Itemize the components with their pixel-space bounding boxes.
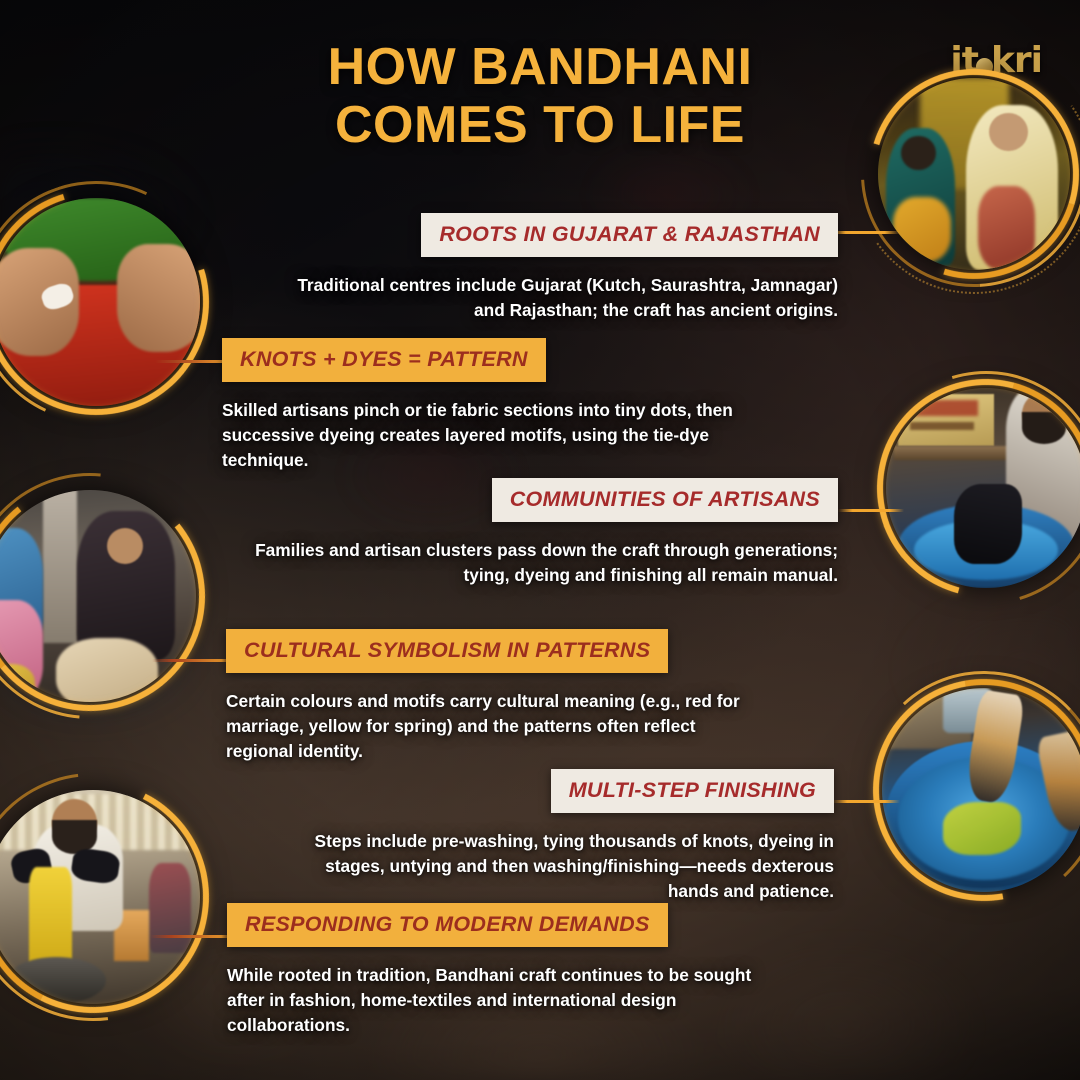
section-communities-body: Families and artisan clusters pass down … [240, 538, 838, 588]
connector-line-modern [150, 935, 234, 938]
logo-text-before: it [950, 40, 978, 81]
photo-women-tying-knots [878, 78, 1070, 270]
page-title-line-1: HOW BANDHANI [328, 38, 753, 96]
section-finishing: MULTI-STEP FINISHING Steps include pre-w… [300, 769, 834, 904]
logo-dot-icon [976, 58, 993, 75]
connector-line-communities [838, 509, 904, 512]
section-finishing-heading[interactable]: MULTI-STEP FINISHING [551, 769, 834, 813]
section-communities-heading[interactable]: COMMUNITIES OF ARTISANS [492, 478, 838, 522]
connector-line-roots [830, 231, 900, 234]
section-symbolism-body: Certain colours and motifs carry cultura… [226, 689, 766, 764]
photo-dyer-lifting-yellow-fabric [0, 790, 200, 1004]
itokri-logo[interactable]: itkri [950, 40, 1042, 81]
scene-art [882, 688, 1080, 892]
section-modern-body: While rooted in tradition, Bandhani craf… [227, 963, 787, 1038]
scene-art [0, 198, 200, 406]
photo-image [0, 790, 200, 1004]
scene-art [878, 78, 1070, 270]
photo-image [0, 490, 196, 702]
photo-image [0, 198, 200, 406]
section-symbolism: CULTURAL SYMBOLISM IN PATTERNS Certain c… [226, 629, 766, 764]
section-roots: ROOTS IN GUJARAT & RAJASTHAN Traditional… [278, 213, 838, 323]
scene-art [886, 388, 1080, 588]
section-roots-body: Traditional centres include Gujarat (Kut… [278, 273, 838, 323]
connector-line-symbolism [152, 659, 234, 662]
photo-dyer-at-blue-tub [886, 388, 1080, 588]
photo-hands-tying-red-fabric [0, 198, 200, 406]
section-symbolism-heading[interactable]: CULTURAL SYMBOLISM IN PATTERNS [226, 629, 668, 673]
photo-image [886, 388, 1080, 588]
connector-line-finishing [832, 800, 900, 803]
photo-image [882, 688, 1080, 892]
logo-text-after: kri [991, 40, 1042, 81]
photo-indigo-dye-vat [882, 688, 1080, 892]
section-knots-body: Skilled artisans pinch or tie fabric sec… [222, 398, 742, 473]
infographic-canvas: HOW BANDHANI COMES TO LIFE itkri [0, 0, 1080, 1080]
section-knots-heading[interactable]: KNOTS + DYES = PATTERN [222, 338, 546, 382]
section-knots: KNOTS + DYES = PATTERN Skilled artisans … [222, 338, 742, 473]
section-modern: RESPONDING TO MODERN DEMANDS While roote… [227, 903, 787, 1038]
photo-image [878, 78, 1070, 270]
scene-art [0, 790, 200, 1004]
scene-art [0, 490, 196, 702]
photo-artisan-families-outdoors [0, 490, 196, 702]
section-finishing-body: Steps include pre-washing, tying thousan… [300, 829, 834, 904]
section-roots-heading[interactable]: ROOTS IN GUJARAT & RAJASTHAN [421, 213, 838, 257]
section-communities: COMMUNITIES OF ARTISANS Families and art… [240, 478, 838, 588]
section-modern-heading[interactable]: RESPONDING TO MODERN DEMANDS [227, 903, 668, 947]
